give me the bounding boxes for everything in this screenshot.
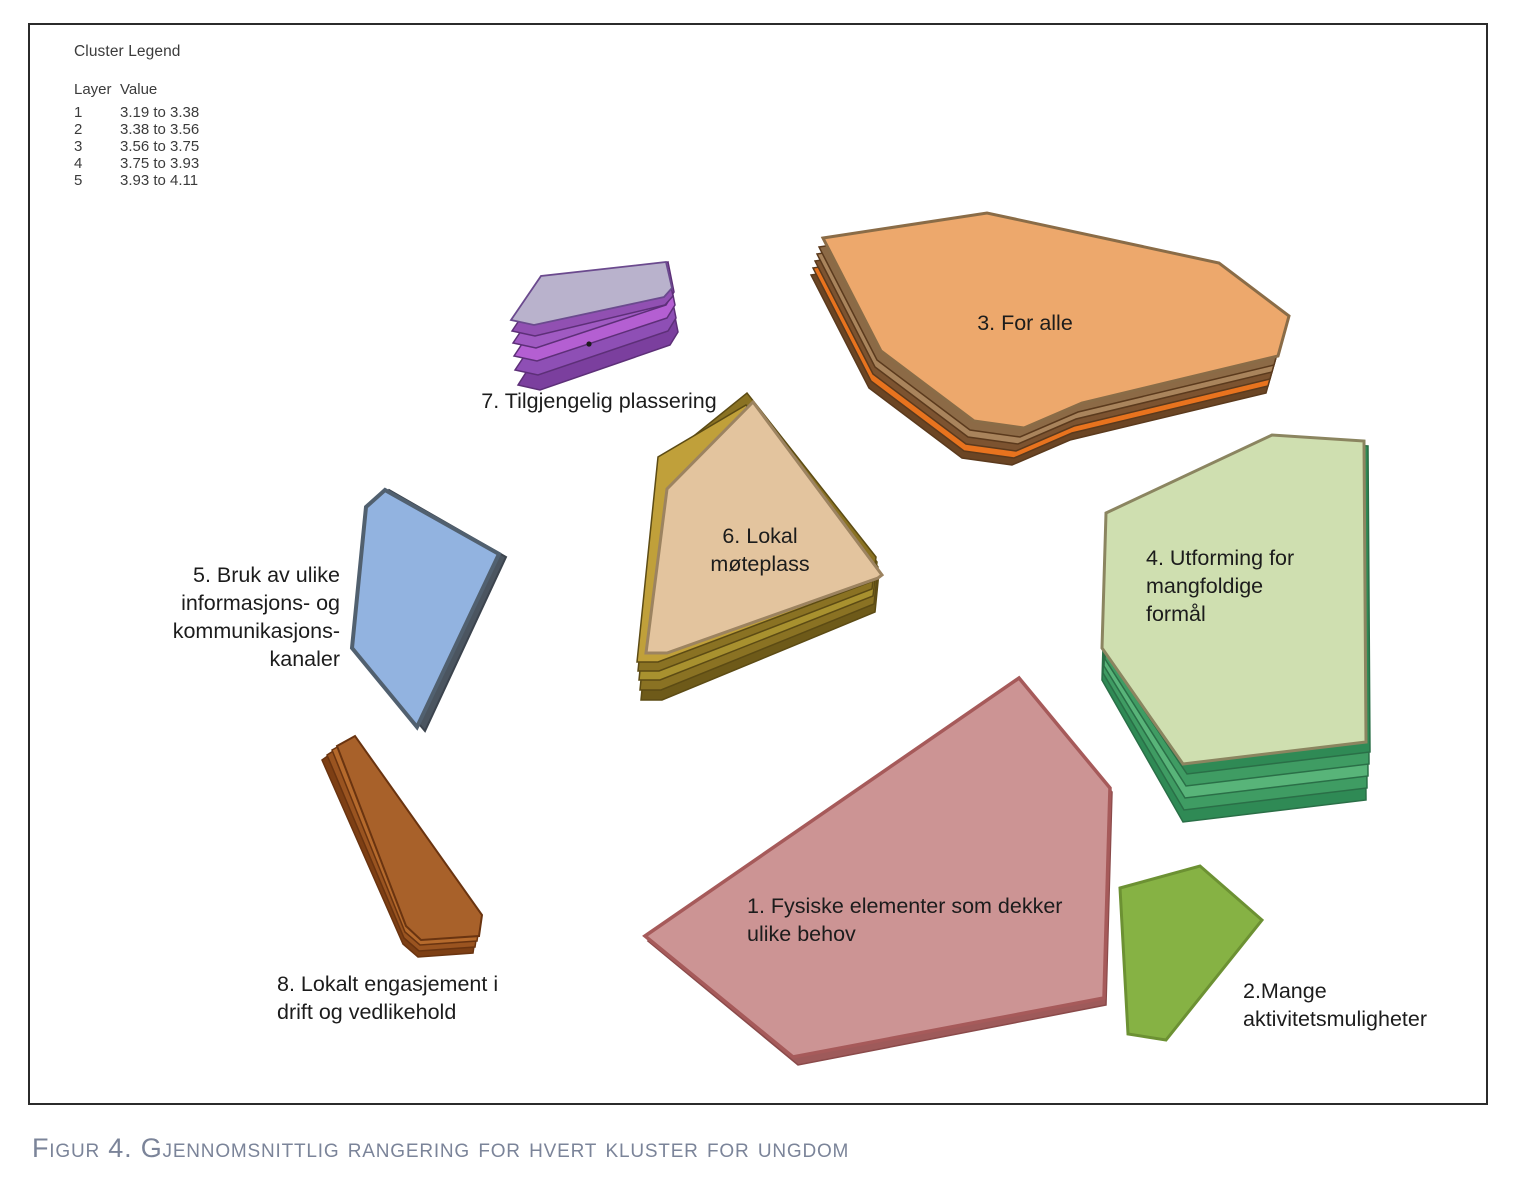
legend-col-layer-header: Layer: [74, 82, 120, 105]
cluster-label-2: 2.Mange aktivitetsmuligheter: [1243, 978, 1503, 1034]
legend-col-value-header: Value: [120, 82, 199, 105]
legend-row: 3 3.56 to 3.75: [74, 139, 199, 156]
legend-header-row: Layer Value: [74, 82, 199, 105]
legend-layer: 5: [74, 173, 120, 190]
legend-value: 3.75 to 3.93: [120, 156, 199, 173]
legend-layer: 4: [74, 156, 120, 173]
legend-layer: 3: [74, 139, 120, 156]
cluster-label-8: 8. Lokalt engasjement i drift og vedlike…: [277, 971, 557, 1027]
legend-value: 3.38 to 3.56: [120, 122, 199, 139]
cluster-label-5: 5. Bruk av ulike informasjons- og kommun…: [110, 562, 340, 674]
legend-value: 3.93 to 4.11: [120, 173, 199, 190]
legend-row: 5 3.93 to 4.11: [74, 173, 199, 190]
cluster-legend: Cluster Legend Layer Value 1 3.19 to 3.3…: [74, 44, 199, 190]
cluster-label-1: 1. Fysiske elementer som dekker ulike be…: [747, 893, 1107, 949]
legend-table: Layer Value 1 3.19 to 3.38 2 3.38 to 3.5…: [74, 82, 199, 190]
cluster-label-4: 4. Utforming for mangfoldige formål: [1146, 545, 1346, 629]
legend-layer: 1: [74, 105, 120, 122]
figure-caption: Figur 4. Gjennomsnittlig rangering for h…: [32, 1133, 849, 1164]
legend-row: 4 3.75 to 3.93: [74, 156, 199, 173]
legend-title: Cluster Legend: [74, 44, 199, 60]
legend-row: 1 3.19 to 3.38: [74, 105, 199, 122]
figure-container: Cluster Legend Layer Value 1 3.19 to 3.3…: [0, 0, 1519, 1200]
cluster-label-7: 7. Tilgjengelig plassering: [474, 388, 724, 416]
cluster-label-3: 3. For alle: [930, 310, 1120, 338]
legend-value: 3.19 to 3.38: [120, 105, 199, 122]
legend-value: 3.56 to 3.75: [120, 139, 199, 156]
legend-layer: 2: [74, 122, 120, 139]
legend-row: 2 3.38 to 3.56: [74, 122, 199, 139]
cluster-label-6: 6. Lokal møteplass: [660, 523, 860, 579]
